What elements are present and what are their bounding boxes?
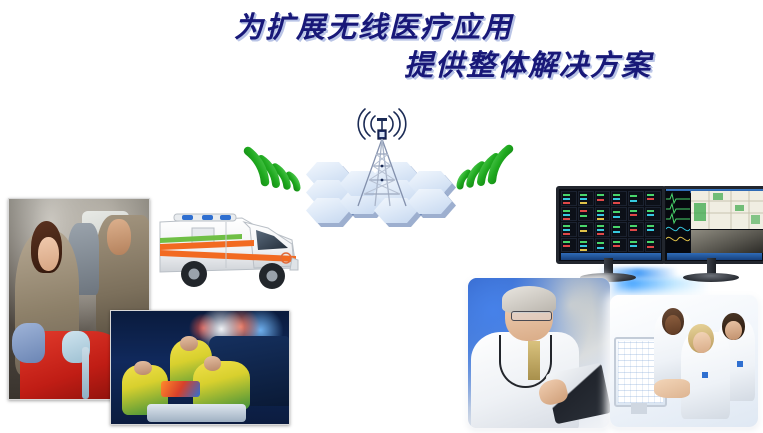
- presentation-slide: 为扩展无线医疗应用 提供整体解决方案: [0, 0, 763, 433]
- cell-tower-graphic: [306, 104, 458, 228]
- tower-mast-icon: [342, 104, 422, 208]
- photo-doctor-with-tablet: [468, 278, 610, 428]
- title-line-2: 提供整体解决方案: [0, 46, 700, 84]
- photo-night-rescue: [110, 310, 290, 425]
- photo-monitoring-station: [556, 186, 761, 288]
- monitor-left-screen: [556, 186, 666, 264]
- monitor-right-screen: [662, 186, 763, 264]
- vitals-grid: [561, 191, 661, 252]
- title-line-1: 为扩展无线医疗应用: [0, 8, 700, 46]
- signal-waves-right-icon: [452, 140, 514, 201]
- photo-ambulance: [146, 192, 310, 302]
- slide-title: 为扩展无线医疗应用 提供整体解决方案: [0, 8, 700, 85]
- photo-medical-team: [610, 295, 758, 427]
